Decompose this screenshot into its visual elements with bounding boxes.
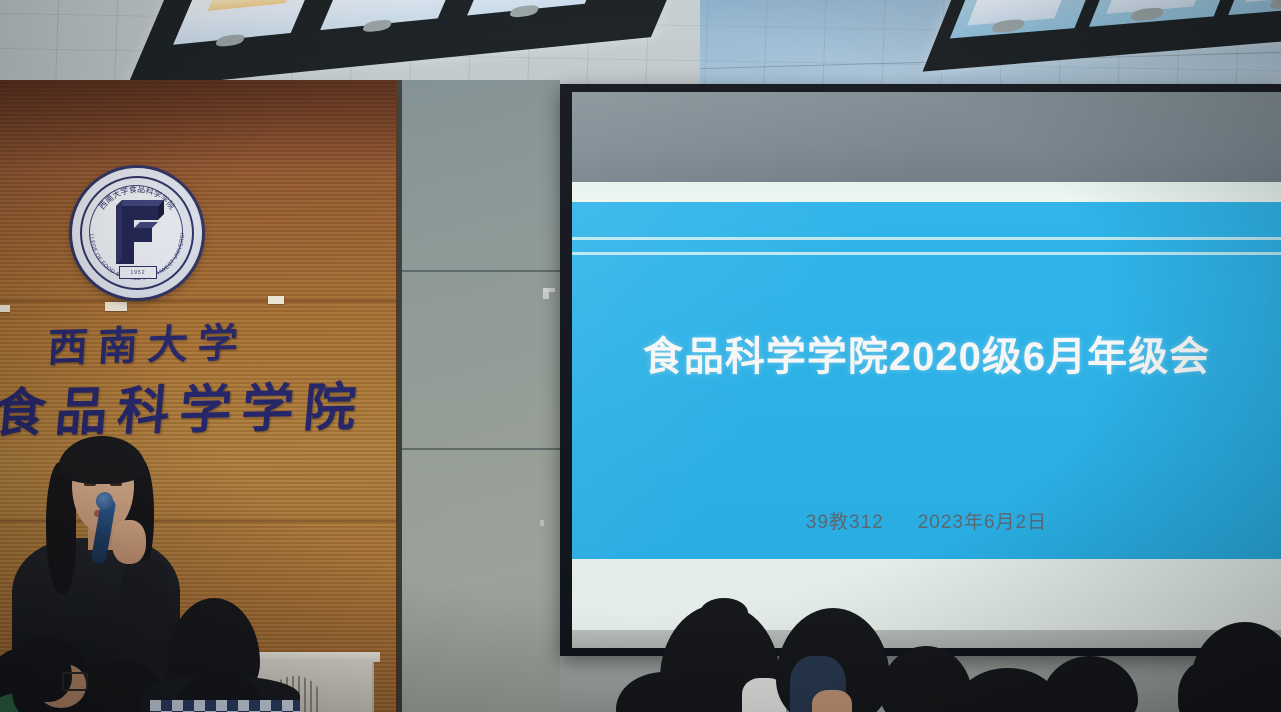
wall-tag bbox=[105, 302, 127, 311]
slide-white-stripe bbox=[572, 182, 1281, 202]
glasses-icon bbox=[62, 672, 88, 691]
emblem-year: 1952 bbox=[119, 266, 157, 279]
panel-seam bbox=[400, 448, 560, 450]
slide-title: 食品科学学院2020级6月年级会 bbox=[572, 324, 1281, 382]
university-emblem-icon: 西南大学食品科学学院 COLLEGE OF FOOD SCIENCE SOUTH… bbox=[72, 168, 202, 298]
slide-subtitle: 39教312 2023年6月2日 bbox=[572, 507, 1281, 534]
side-wall-panel-edge bbox=[398, 80, 402, 712]
list-item bbox=[150, 700, 300, 712]
wall-tag bbox=[268, 296, 284, 304]
college-name-calligraphy: 食品科学学院 bbox=[0, 365, 370, 446]
podium-surface bbox=[244, 652, 380, 662]
slide-date: 2023年6月2日 bbox=[918, 507, 1047, 534]
slide-hairline bbox=[572, 237, 1281, 240]
panel-mark bbox=[543, 288, 555, 292]
slide-bottom-band bbox=[572, 559, 1281, 630]
university-name-calligraphy: 西南大学 bbox=[46, 310, 250, 373]
list-item bbox=[700, 598, 748, 628]
slide-hairline bbox=[572, 252, 1281, 255]
wood-seam bbox=[0, 300, 400, 302]
wood-wall-shadow bbox=[0, 80, 400, 170]
presenter-hand bbox=[112, 520, 146, 564]
slide-top-band bbox=[572, 92, 1281, 182]
side-wall-panel bbox=[400, 80, 560, 712]
slide-room: 39教312 bbox=[806, 507, 884, 534]
panel-seam bbox=[400, 270, 560, 272]
projection-screen[interactable]: 食品科学学院2020级6月年级会 39教312 2023年6月2日 bbox=[572, 92, 1281, 648]
panel-mark bbox=[540, 520, 544, 526]
list-item bbox=[812, 690, 852, 712]
lecture-hall-photo: 西南大学食品科学学院 COLLEGE OF FOOD SCIENCE SOUTH… bbox=[0, 0, 1281, 712]
emblem-monogram-icon bbox=[116, 200, 164, 264]
presentation-slide: 食品科学学院2020级6月年级会 39教312 2023年6月2日 bbox=[572, 92, 1281, 648]
wall-tag bbox=[0, 305, 10, 312]
